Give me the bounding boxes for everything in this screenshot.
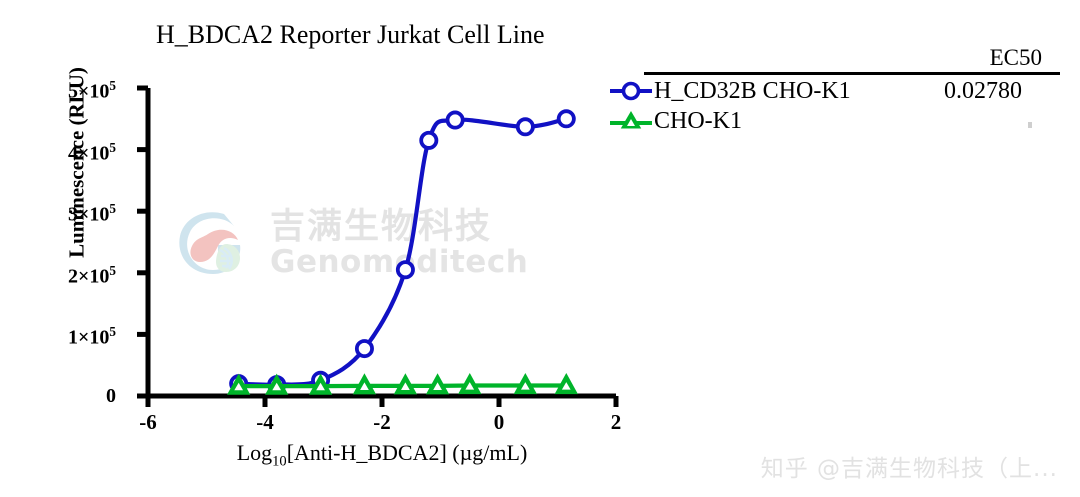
y-tick-label-500k: 5×105 <box>20 78 116 104</box>
y-tick-label-0: 0 <box>20 385 116 408</box>
x-tick-label-2: 2 <box>586 410 646 435</box>
y-tick-label-300k: 3×105 <box>20 201 116 227</box>
legend-row-h-cd32b-cho-k1[interactable]: H_CD32B CHO-K1 0.02780 <box>608 76 1060 106</box>
series-0 <box>231 111 574 392</box>
x-axis-title: Log10[Anti-H_BDCA2] (µg/mL) <box>148 440 616 470</box>
legend-ec50-header: EC50 <box>608 46 1060 70</box>
chart-title: H_BDCA2 Reporter Jurkat Cell Line <box>156 20 545 50</box>
legend-key-circle-icon <box>608 78 654 104</box>
chart-page: 吉满生物科技 Genomeditech 知乎 @吉满生物科技（上... H_BD… <box>0 0 1080 497</box>
legend-label-1: CHO-K1 <box>654 109 944 133</box>
legend-row-cho-k1[interactable]: CHO-K1 <box>608 106 1060 136</box>
x-tick-label-0: 0 <box>469 410 529 435</box>
legend-key-triangle-icon <box>608 108 654 134</box>
y-tick-label-100k: 1×105 <box>20 324 116 350</box>
legend-label-0: H_CD32B CHO-K1 <box>654 79 944 103</box>
y-tick-label-400k: 4×105 <box>20 140 116 166</box>
axes <box>137 88 616 407</box>
x-tick-label-minus2: -2 <box>352 410 412 435</box>
legend-rule <box>644 72 1060 75</box>
x-tick-label-minus4: -4 <box>235 410 295 435</box>
y-tick-label-200k: 2×105 <box>20 263 116 289</box>
x-tick-label-minus6: -6 <box>118 410 178 435</box>
legend-value-0: 0.02780 <box>944 79 1022 103</box>
legend: EC50 H_CD32B CHO-K1 0.02780 CHO-K1 <box>608 46 1060 136</box>
